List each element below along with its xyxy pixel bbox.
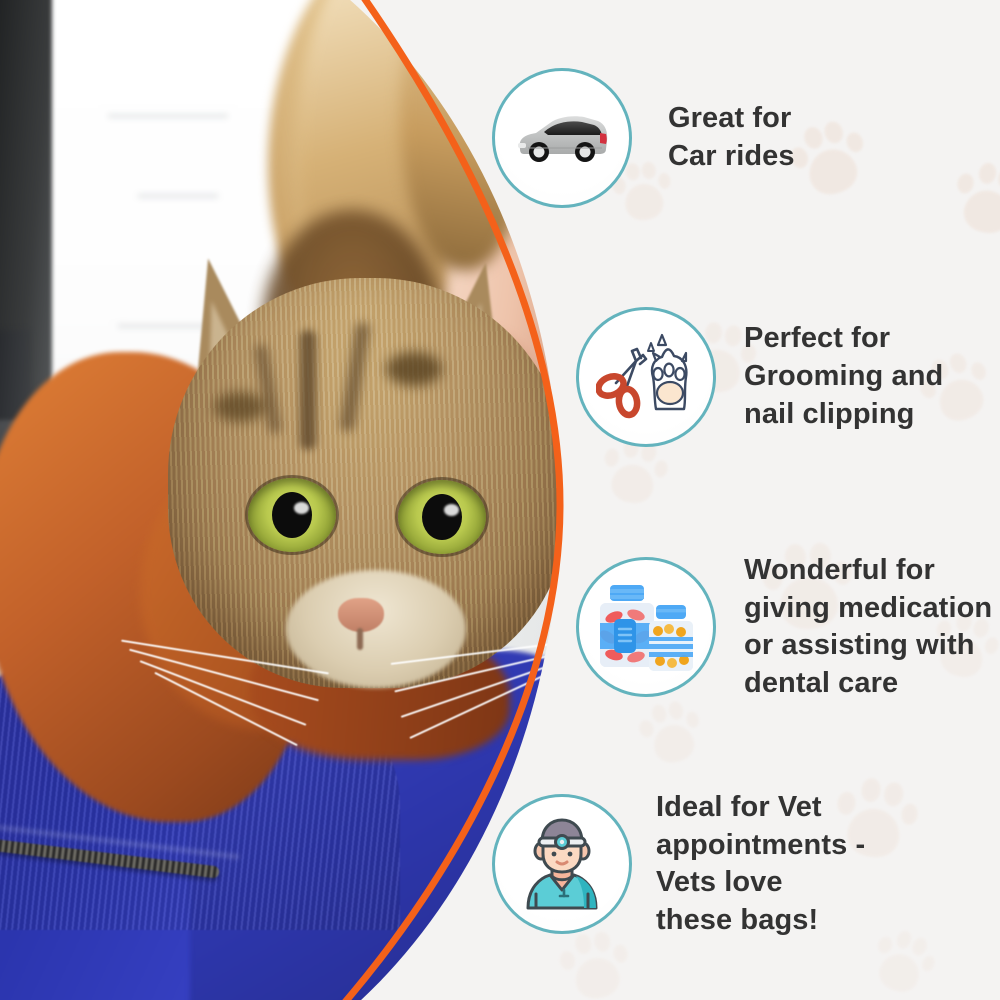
feature-item-medication[interactable]: Wonderful for giving medication or assis… <box>576 552 992 703</box>
feature-text: Great for Car rides <box>668 100 795 175</box>
pill-bottles-icon <box>594 579 698 675</box>
feature-list: Great for Car rides <box>0 0 1000 1000</box>
feature-icon-badge <box>492 68 632 208</box>
infographic-panel: Great for Car rides <box>0 0 1000 1000</box>
veterinarian-icon <box>514 816 610 912</box>
feature-item-vet-appointments[interactable]: Ideal for Vet appointments - Vets love t… <box>492 789 865 940</box>
car-icon <box>514 109 610 167</box>
nail-clipper-paw-icon <box>596 331 696 423</box>
feature-text: Perfect for Grooming and nail clipping <box>744 320 943 433</box>
feature-item-grooming[interactable]: Perfect for Grooming and nail clipping <box>576 307 943 447</box>
feature-text: Ideal for Vet appointments - Vets love t… <box>656 789 865 940</box>
feature-item-car-rides[interactable]: Great for Car rides <box>492 68 795 208</box>
feature-text: Wonderful for giving medication or assis… <box>744 552 992 703</box>
feature-icon-badge <box>576 307 716 447</box>
feature-icon-badge <box>492 794 632 934</box>
feature-icon-badge <box>576 557 716 697</box>
